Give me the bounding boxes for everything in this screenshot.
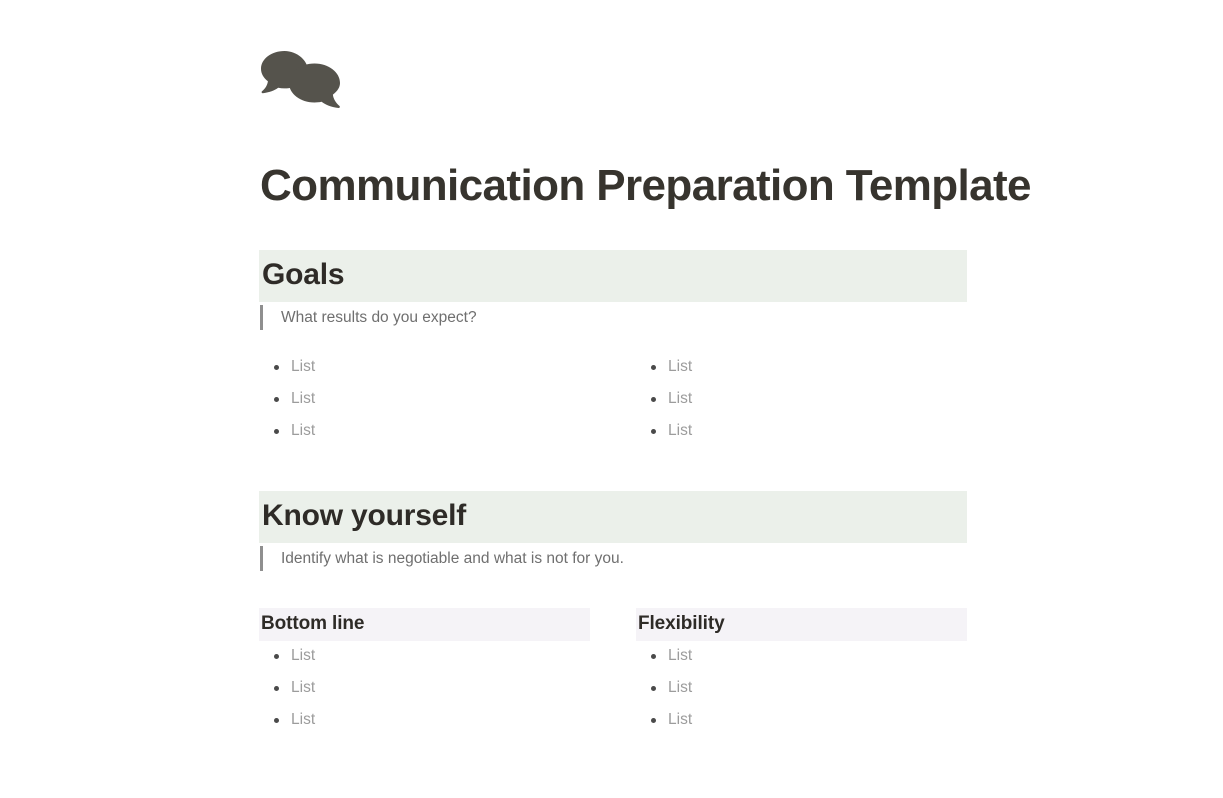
- list-item-label: List: [668, 711, 692, 728]
- page-title: Communication Preparation Template: [260, 158, 1031, 214]
- list-item-label: List: [668, 647, 692, 664]
- bullet-icon: [274, 397, 279, 402]
- list-item[interactable]: List: [260, 383, 590, 415]
- list-item[interactable]: List: [260, 704, 590, 736]
- callout-text: What results do you expect?: [263, 305, 477, 330]
- callout-text: Identify what is negotiable and what is …: [263, 546, 624, 571]
- bullet-icon: [274, 718, 279, 723]
- bullet-icon: [274, 686, 279, 691]
- list-item[interactable]: List: [260, 351, 590, 383]
- flexibility-list: List List List: [637, 640, 967, 736]
- bullet-icon: [651, 654, 656, 659]
- bullet-icon: [651, 686, 656, 691]
- bullet-icon: [651, 365, 656, 370]
- list-item[interactable]: List: [260, 640, 590, 672]
- goals-list-right-column: List List List: [637, 351, 967, 447]
- bullet-icon: [274, 654, 279, 659]
- speech-bubbles-icon[interactable]: [259, 49, 345, 113]
- list-item-label: List: [291, 647, 315, 664]
- list-item[interactable]: List: [260, 415, 590, 447]
- list-item[interactable]: List: [637, 415, 967, 447]
- list-item[interactable]: List: [637, 704, 967, 736]
- bullet-icon: [274, 429, 279, 434]
- bullet-icon: [274, 365, 279, 370]
- list-item[interactable]: List: [637, 640, 967, 672]
- list-item[interactable]: List: [637, 351, 967, 383]
- list-item[interactable]: List: [260, 672, 590, 704]
- list-item-label: List: [291, 711, 315, 728]
- callout-know-yourself: Identify what is negotiable and what is …: [260, 546, 960, 571]
- list-item-label: List: [668, 390, 692, 407]
- list-item-label: List: [291, 390, 315, 407]
- section-heading: Know yourself: [262, 497, 967, 535]
- subsection-heading: Bottom line: [261, 611, 590, 637]
- list-item-label: List: [668, 358, 692, 375]
- section-header-know-yourself: Know yourself: [259, 491, 967, 543]
- bullet-icon: [651, 397, 656, 402]
- document-page: Communication Preparation Template Goals…: [0, 0, 1223, 798]
- list-item[interactable]: List: [637, 672, 967, 704]
- section-header-goals: Goals: [259, 250, 967, 302]
- bullet-icon: [651, 429, 656, 434]
- subsection-header-flexibility: Flexibility: [636, 608, 967, 641]
- subsection-heading: Flexibility: [638, 611, 967, 637]
- callout-goals: What results do you expect?: [260, 305, 960, 330]
- goals-list-left-column: List List List: [260, 351, 590, 447]
- list-item-label: List: [291, 422, 315, 439]
- list-item-label: List: [291, 358, 315, 375]
- section-heading: Goals: [262, 256, 967, 294]
- subsection-header-bottom-line: Bottom line: [259, 608, 590, 641]
- bottom-line-list: List List List: [260, 640, 590, 736]
- list-item[interactable]: List: [637, 383, 967, 415]
- list-item-label: List: [668, 422, 692, 439]
- list-item-label: List: [291, 679, 315, 696]
- bullet-icon: [651, 718, 656, 723]
- list-item-label: List: [668, 679, 692, 696]
